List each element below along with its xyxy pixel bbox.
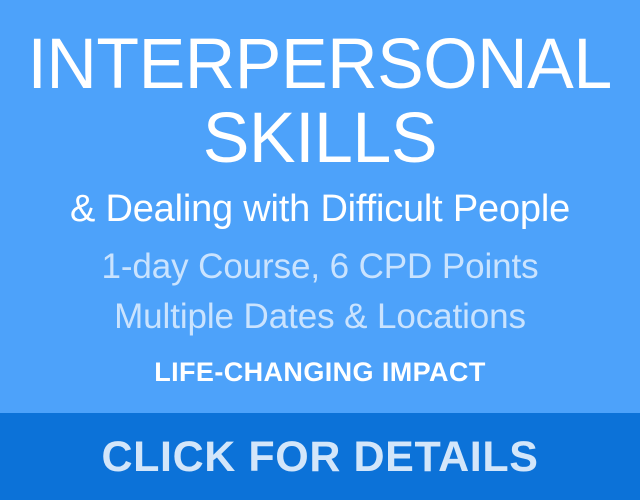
advertisement-banner[interactable]: INTERPERSONAL SKILLS & Dealing with Diff… [0, 0, 640, 500]
impact-tagline: LIFE-CHANGING IMPACT [154, 355, 485, 389]
detail-course-info: 1-day Course, 6 CPD Points [101, 243, 538, 290]
headline-line-1: INTERPERSONAL [28, 26, 612, 104]
cta-label: CLICK FOR DETAILS [102, 433, 539, 481]
cta-button[interactable]: CLICK FOR DETAILS [0, 413, 640, 500]
detail-dates-locations: Multiple Dates & Locations [114, 293, 526, 340]
headline-line-2: SKILLS [203, 100, 437, 178]
subheadline: & Dealing with Difficult People [70, 186, 570, 232]
banner-content: INTERPERSONAL SKILLS & Dealing with Diff… [0, 0, 640, 413]
